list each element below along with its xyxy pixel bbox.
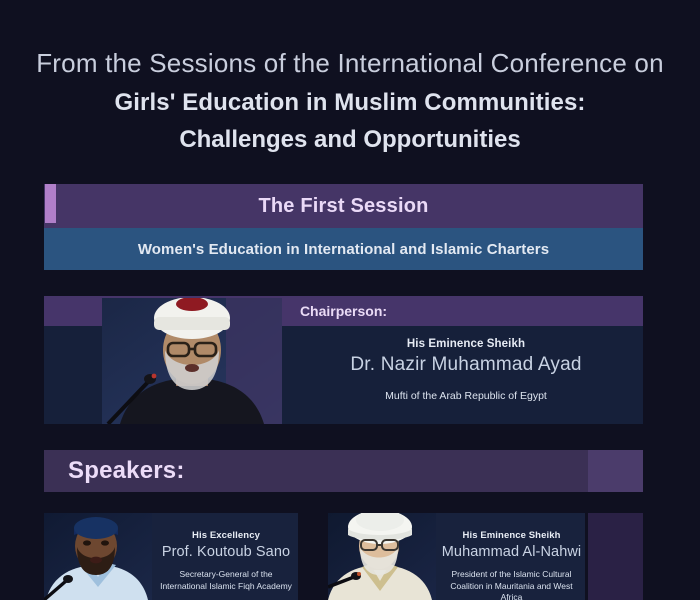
session-subtitle-band: Women's Education in International and I… [44, 228, 643, 270]
session-title: The First Session [258, 195, 428, 218]
chairperson-role: Mufti of the Arab Republic of Egypt [289, 390, 643, 402]
chairperson-honorific: His Eminence Sheikh [289, 338, 643, 350]
speaker-card-partial [588, 513, 643, 600]
conference-intro-line: From the Sessions of the International C… [0, 42, 700, 84]
session-subtitle: Women's Education in International and I… [138, 241, 549, 258]
speaker-photo [44, 513, 152, 600]
speakers-bar-right-block [588, 450, 643, 492]
chairperson-info: His Eminence Sheikh Dr. Nazir Muhammad A… [289, 326, 643, 402]
speakers-section-bar: Speakers: [44, 450, 643, 492]
speaker-card: His Eminence Sheikh Muhammad Al-Nahwi Pr… [328, 513, 585, 600]
portrait-illustration-icon [102, 298, 282, 424]
chairperson-photo [102, 298, 282, 424]
speaker-photo [328, 513, 436, 600]
chairperson-name: Dr. Nazir Muhammad Ayad [289, 354, 643, 376]
chairperson-card: Chairperson: [44, 296, 643, 424]
speaker-card: His Excellency Prof. Koutoub Sano Secret… [44, 513, 298, 600]
portrait-illustration-icon [328, 513, 436, 600]
page-title: From the Sessions of the International C… [0, 42, 700, 158]
speaker-info: His Excellency Prof. Koutoub Sano Secret… [154, 513, 298, 592]
slide-root: From the Sessions of the International C… [0, 0, 700, 600]
speaker-name: Muhammad Al-Nahwi [438, 544, 585, 560]
conference-title-line-1: Girls' Education in Muslim Communities: [0, 84, 700, 121]
speaker-name: Prof. Koutoub Sano [154, 544, 298, 560]
accent-bar [45, 184, 56, 223]
speaker-role: Secretary-General of the International I… [154, 569, 298, 592]
speaker-honorific: His Eminence Sheikh [438, 530, 585, 541]
session-title-band: The First Session [44, 184, 643, 228]
chairperson-body: His Eminence Sheikh Dr. Nazir Muhammad A… [44, 326, 643, 424]
chairperson-heading: Chairperson: [300, 303, 387, 319]
conference-title-line-2: Challenges and Opportunities [0, 121, 700, 158]
speaker-honorific: His Excellency [154, 530, 298, 541]
session-banner: The First Session Women's Education in I… [44, 184, 643, 270]
portrait-illustration-icon [44, 513, 152, 600]
speakers-label: Speakers: [68, 450, 185, 492]
speaker-role: President of the Islamic Cultural Coalit… [438, 569, 585, 600]
speaker-info: His Eminence Sheikh Muhammad Al-Nahwi Pr… [438, 513, 585, 600]
